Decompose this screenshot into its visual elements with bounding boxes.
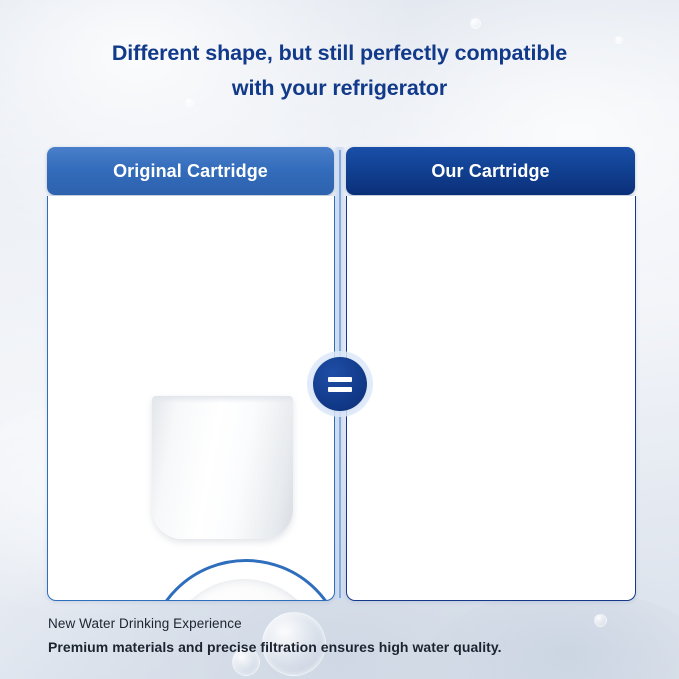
product-comparison-infographic: Different shape, but still perfectly com… [0,0,679,679]
panel-header-original-cartridge-label: Original Cartridge [113,161,268,182]
bubble-icon [594,614,607,627]
detail-inner-ring [166,579,322,601]
page-title: Different shape, but still perfectly com… [0,36,679,106]
page-title-line-1: Different shape, but still perfectly com… [112,41,567,65]
footer-line-1: New Water Drinking Experience [48,613,502,635]
footer-line-2: Premium materials and precise filtration… [48,635,502,659]
panel-header-our-cartridge: Our Cartridge [346,147,635,195]
panel-header-our-cartridge-label: Our Cartridge [431,161,549,182]
page-title-line-2: with your refrigerator [0,71,679,106]
footer-text: New Water Drinking Experience Premium ma… [48,613,502,659]
equals-icon [313,357,367,411]
original-cartridge-detail-circle [146,559,335,601]
original-cartridge-icon [152,396,293,539]
bubble-icon [470,18,481,29]
panel-original-cartridge [47,196,335,601]
panel-our-cartridge [346,196,636,601]
panel-header-original-cartridge: Original Cartridge [47,147,334,195]
